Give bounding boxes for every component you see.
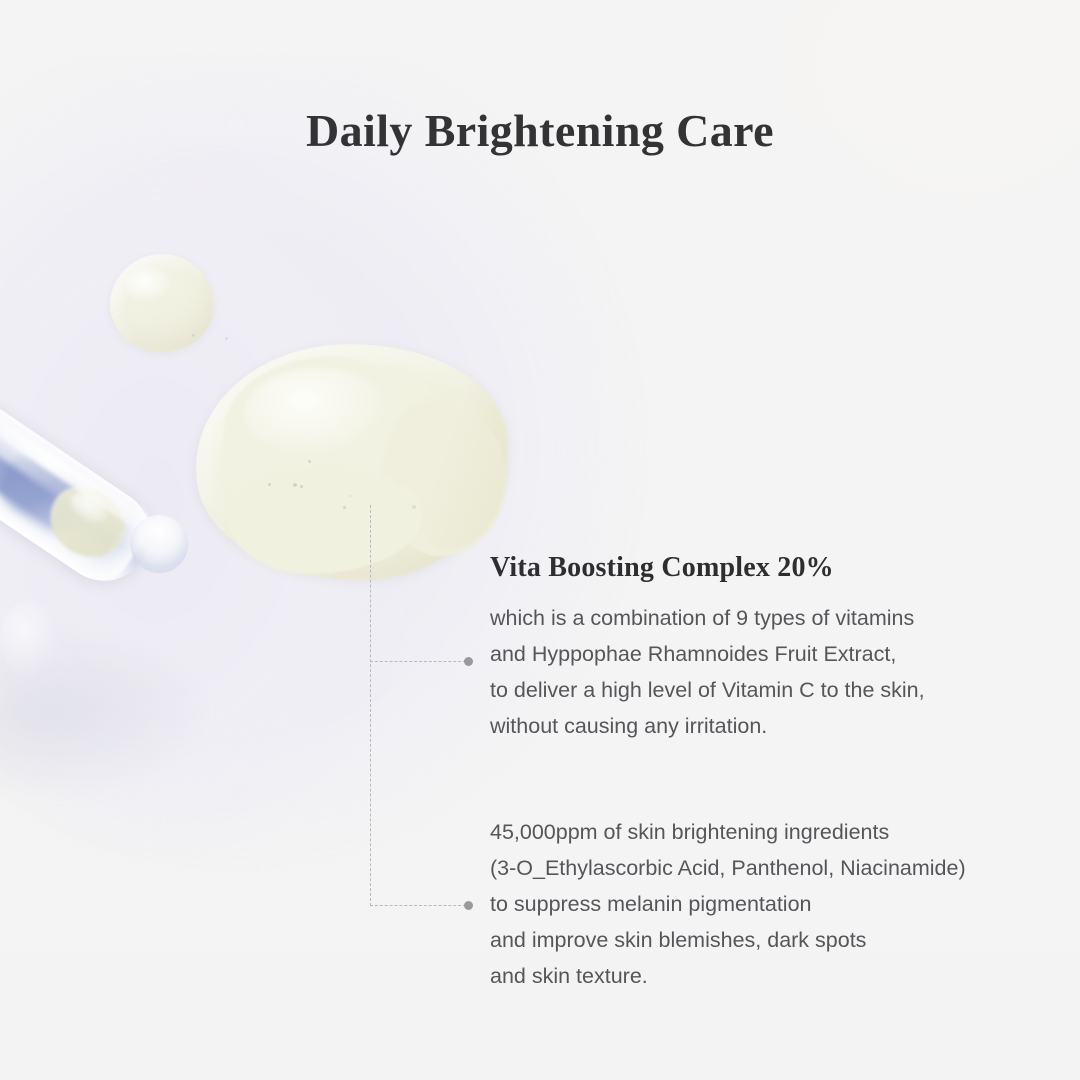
serum-speck [225,337,228,340]
serum-speck [192,334,195,337]
callout-leader-horizontal-2 [370,905,466,906]
serum-droplet-edge-highlight [392,372,508,550]
serum-speck [293,483,297,487]
serum-speck [268,483,271,486]
callout-body-2: 45,000ppm of skin brightening ingredient… [490,814,1050,994]
serum-droplet-gloss [244,368,394,460]
serum-droplet-small [110,254,214,352]
callout-endpoint-dot-1 [464,657,473,666]
product-detail-image: Daily Brightening Care Vita Boosting Com… [0,0,1080,1080]
serum-speck [343,506,346,509]
callout-heading-1: Vita Boosting Complex 20% [490,552,1050,584]
callout-block-1: Vita Boosting Complex 20% which is a com… [490,552,1050,744]
serum-speck [412,505,416,509]
callout-leader-horizontal-1 [370,661,466,662]
callout-body-1: which is a combination of 9 types of vit… [490,600,1050,744]
serum-droplet-small-highlight [126,268,172,302]
page-title: Daily Brightening Care [0,104,1080,157]
callout-endpoint-dot-2 [464,901,473,910]
serum-speck [349,495,351,497]
callout-leader-vertical [370,505,371,906]
callout-block-2: 45,000ppm of skin brightening ingredient… [490,814,1050,994]
serum-speck [308,460,311,463]
serum-speck [300,485,303,488]
